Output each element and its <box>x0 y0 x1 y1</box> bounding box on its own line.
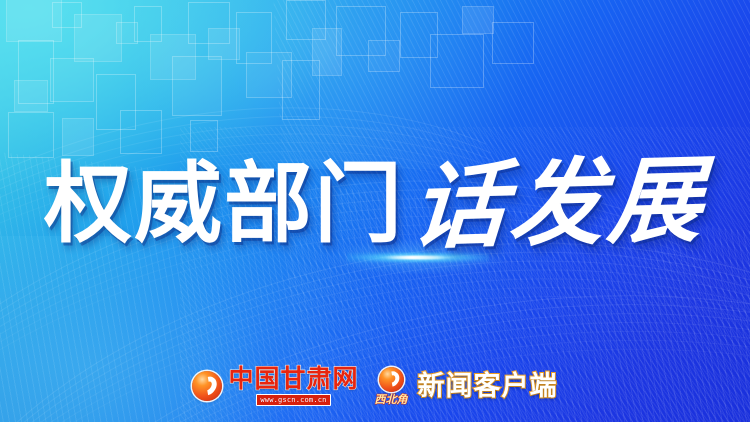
decorative-square <box>368 40 400 72</box>
decorative-square <box>430 34 484 88</box>
gansu-net-text: 中国甘肃网 www.gscn.com.cn <box>228 366 358 406</box>
banner-title-brush-part: 话发展 <box>409 153 709 255</box>
decorative-square <box>286 0 326 40</box>
decorative-square <box>150 34 196 80</box>
gansu-net-url: www.gscn.com.cn <box>256 394 330 406</box>
xibeijiao-badge: 西北角 <box>375 394 408 405</box>
decorative-square <box>400 12 438 58</box>
decorative-square <box>246 52 292 98</box>
decorative-square <box>96 74 136 130</box>
banner-title: 权威部门 话发展 <box>0 148 750 260</box>
xibeijiao-mark: 西北角 <box>375 367 408 405</box>
decorative-square <box>14 80 48 112</box>
footer-logos: 中国甘肃网 www.gscn.com.cn 西北角 新闻客户端 <box>0 366 750 406</box>
decorative-square <box>188 2 230 44</box>
decorative-square <box>6 0 62 42</box>
decorative-square <box>172 56 222 116</box>
glow-top-middle <box>135 0 525 169</box>
decorative-square <box>236 12 272 64</box>
logo-china-gansu-net[interactable]: 中国甘肃网 www.gscn.com.cn <box>192 366 358 406</box>
banner-title-heiti-part: 权威部门 <box>44 160 404 248</box>
logo-news-app[interactable]: 西北角 新闻客户端 <box>375 367 558 405</box>
decorative-square <box>282 60 320 120</box>
promo-banner: 权威部门 话发展 中国甘肃网 www.gscn.com.cn 西北角 新闻客户端 <box>0 0 750 422</box>
gansu-net-name: 中国甘肃网 <box>228 366 358 391</box>
decorative-square <box>74 14 122 62</box>
decorative-square <box>116 22 138 44</box>
news-app-name: 新闻客户端 <box>418 373 558 400</box>
decorative-square <box>492 22 534 64</box>
decorative-square <box>462 6 494 34</box>
decorative-square <box>336 6 386 56</box>
decorative-square <box>52 2 82 28</box>
decorative-square <box>50 58 94 102</box>
decorative-square <box>18 40 54 104</box>
swirl-g-icon <box>379 367 404 392</box>
decorative-square <box>208 28 240 60</box>
decorative-square <box>312 28 342 76</box>
decorative-square <box>134 6 162 42</box>
swirl-g-icon <box>192 371 222 401</box>
